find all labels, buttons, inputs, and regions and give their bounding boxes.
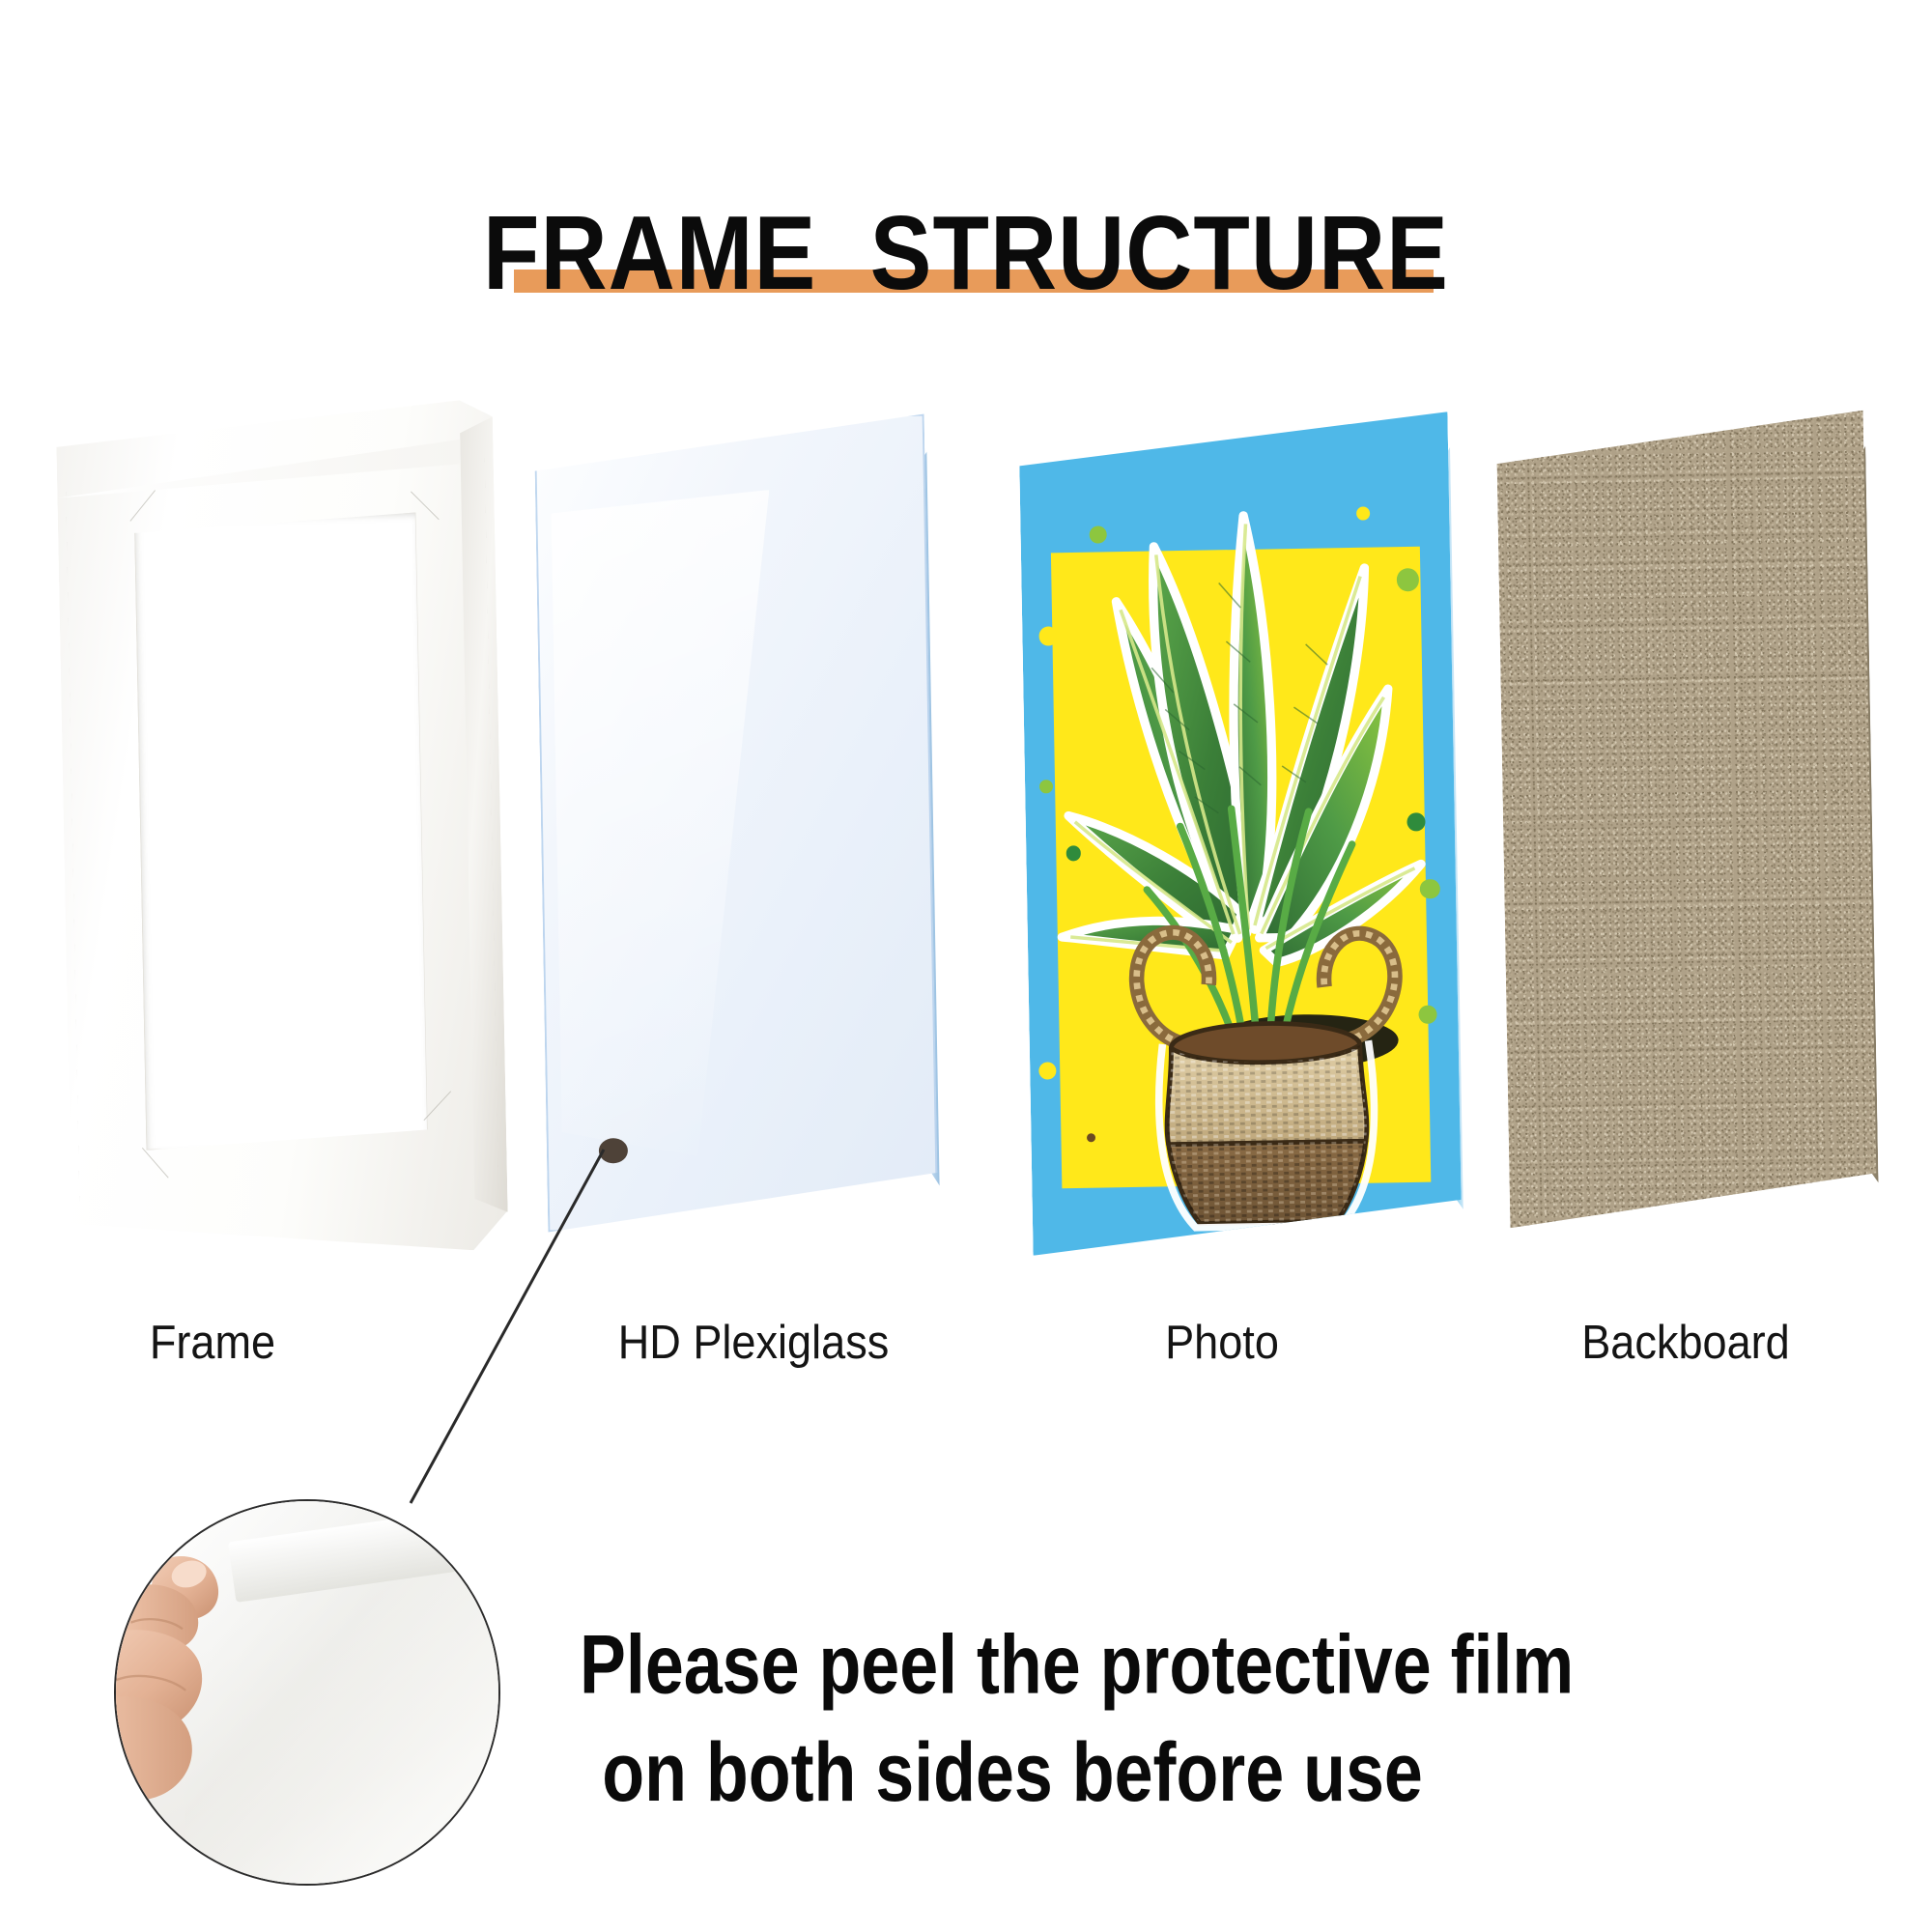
label-frame: Frame: [71, 1309, 355, 1377]
photo-confetti-dots: [1018, 412, 1447, 419]
label-plexiglass: HD Plexiglass: [545, 1309, 962, 1377]
part-backboard[interactable]: [1496, 411, 1878, 1229]
infographic-canvas: FRAME STRUCTURE: [0, 0, 1932, 1932]
photo-artwork: [1018, 412, 1462, 1256]
label-photo: Photo: [1062, 1309, 1381, 1377]
caption-line-1: Please peel the protective film: [580, 1611, 1826, 1719]
part-frame[interactable]: [56, 400, 509, 1259]
protective-film-photo-inset: [114, 1499, 500, 1886]
potted-plant-illustration: [1018, 412, 1462, 1256]
frame-opening: [134, 513, 428, 1151]
backboard-texture: [1496, 411, 1878, 1229]
label-backboard: Backboard: [1477, 1309, 1894, 1377]
caption-line-2: on both sides before use: [580, 1719, 1826, 1828]
exploded-parts-row: [0, 0, 1932, 1294]
hand-icon: [114, 1532, 292, 1823]
part-plexiglass[interactable]: [534, 414, 939, 1233]
instruction-caption: Please peel the protective film on both …: [580, 1611, 1826, 1827]
part-photo[interactable]: [1018, 412, 1462, 1256]
